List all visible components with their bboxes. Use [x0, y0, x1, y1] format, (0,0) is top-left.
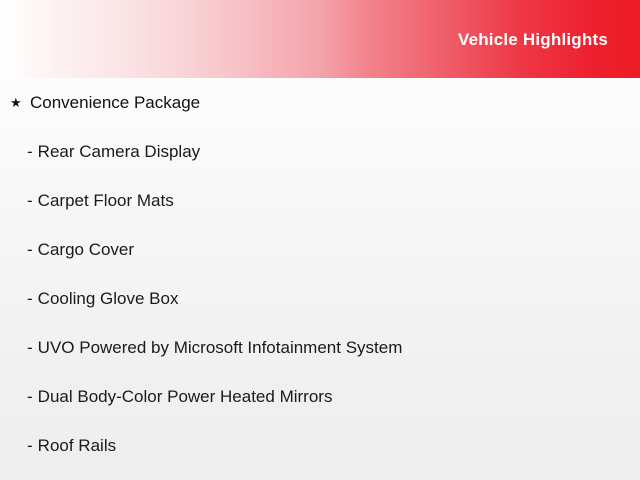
list-item: - Dual Body-Color Power Heated Mirrors	[0, 372, 640, 421]
feature-label: Carpet Floor Mats	[38, 192, 174, 209]
feature-label: Rear Camera Display	[38, 143, 201, 160]
list-item: - Cargo Cover	[0, 225, 640, 274]
feature-label: Cooling Glove Box	[38, 290, 179, 307]
feature-label: Cargo Cover	[38, 241, 134, 258]
page-title: Vehicle Highlights	[458, 30, 608, 50]
header-banner: Vehicle Highlights	[0, 0, 640, 78]
feature-label: Roof Rails	[38, 437, 116, 454]
list-item-heading: ★ Convenience Package	[0, 78, 640, 127]
dash-icon: -	[27, 437, 33, 454]
feature-label: UVO Powered by Microsoft Infotainment Sy…	[38, 339, 403, 356]
star-icon: ★	[10, 96, 30, 109]
list-item: - Roof Rails	[0, 421, 640, 470]
dash-icon: -	[27, 241, 33, 258]
list-item: - Rear Camera Display	[0, 127, 640, 176]
feature-label: Dual Body-Color Power Heated Mirrors	[38, 388, 333, 405]
dash-icon: -	[27, 192, 33, 209]
feature-list: ★ Convenience Package - Rear Camera Disp…	[0, 78, 640, 470]
list-item: - Cooling Glove Box	[0, 274, 640, 323]
list-item: - Carpet Floor Mats	[0, 176, 640, 225]
dash-icon: -	[27, 388, 33, 405]
dash-icon: -	[27, 143, 33, 160]
vehicle-highlights-page: Vehicle Highlights ★ Convenience Package…	[0, 0, 640, 480]
feature-label: Convenience Package	[30, 94, 200, 111]
dash-icon: -	[27, 290, 33, 307]
dash-icon: -	[27, 339, 33, 356]
list-item: - UVO Powered by Microsoft Infotainment …	[0, 323, 640, 372]
